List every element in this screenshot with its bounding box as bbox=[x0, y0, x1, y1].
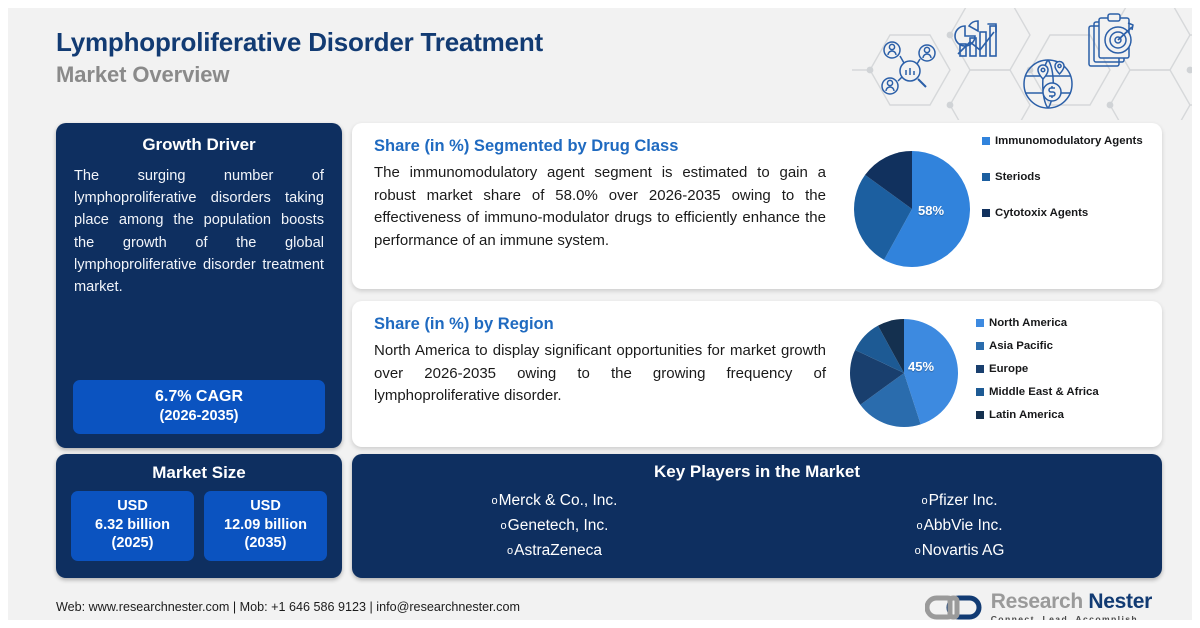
legend-swatch bbox=[982, 173, 990, 181]
list-bullet-icon: o bbox=[501, 520, 507, 532]
globe-location-money-icon bbox=[1024, 60, 1072, 108]
region-card: Share (in %) by Region North America to … bbox=[352, 301, 1162, 447]
market-size-panel: Market Size USD 6.32 billion (2025) USD … bbox=[56, 454, 342, 578]
footer-contact: Web: www.researchnester.com | Mob: +1 64… bbox=[56, 600, 520, 614]
key-players-title: Key Players in the Market bbox=[352, 454, 1162, 482]
key-player-name: Genetech, Inc. bbox=[508, 517, 609, 534]
key-player-item: oGenetech, Inc. bbox=[352, 513, 757, 538]
legend-label: Cytotoxix Agents bbox=[995, 207, 1088, 219]
logo-word-research: Research bbox=[991, 590, 1083, 613]
legend-item: North America bbox=[976, 317, 1099, 329]
user-network-search-icon bbox=[882, 42, 935, 94]
region-pie-chart: 45% bbox=[850, 319, 958, 427]
page-subtitle: Market Overview bbox=[56, 61, 756, 90]
hexagon-decoration-band bbox=[852, 8, 1192, 120]
key-players-column-left: oMerck & Co., Inc.oGenetech, Inc.oAstraZ… bbox=[352, 488, 757, 563]
market-size-values: USD 6.32 billion (2025) USD 12.09 billio… bbox=[56, 483, 342, 561]
key-players-columns: oMerck & Co., Inc.oGenetech, Inc.oAstraZ… bbox=[352, 482, 1162, 563]
legend-item: Immunomodulatory Agents bbox=[982, 135, 1143, 147]
legend-item: Middle East & Africa bbox=[976, 386, 1099, 398]
drug-class-legend: Immunomodulatory AgentsSteriodsCytotoxix… bbox=[982, 135, 1143, 243]
legend-label: North America bbox=[989, 317, 1067, 329]
bar-chart-growth-icon bbox=[955, 21, 996, 56]
key-player-name: AbbVie Inc. bbox=[924, 517, 1003, 534]
infographic-page: Lymphoproliferative Disorder Treatment M… bbox=[0, 0, 1200, 628]
market-size-currency: USD bbox=[204, 497, 327, 516]
list-bullet-icon: o bbox=[921, 495, 927, 507]
infographic-canvas: Lymphoproliferative Disorder Treatment M… bbox=[8, 8, 1192, 620]
legend-swatch bbox=[982, 137, 990, 145]
list-bullet-icon: o bbox=[916, 520, 922, 532]
clipboard-target-icon bbox=[1089, 14, 1133, 66]
key-player-name: Merck & Co., Inc. bbox=[499, 492, 618, 509]
key-player-name: Pfizer Inc. bbox=[929, 492, 998, 509]
key-player-name: Novartis AG bbox=[922, 542, 1005, 559]
market-size-box-base-year[interactable]: USD 6.32 billion (2025) bbox=[71, 491, 194, 561]
legend-label: Steriods bbox=[995, 171, 1041, 183]
legend-label: Asia Pacific bbox=[989, 340, 1053, 352]
growth-driver-panel: Growth Driver The surging number of lymp… bbox=[56, 123, 342, 448]
logo-word-nester: Nester bbox=[1088, 590, 1152, 613]
legend-swatch bbox=[976, 319, 984, 327]
cagr-period: (2026-2035) bbox=[73, 407, 325, 425]
legend-swatch bbox=[976, 411, 984, 419]
chain-link-icon bbox=[925, 591, 983, 620]
region-chart-zone: 45% North AmericaAsia PacificEuropeMiddl… bbox=[842, 301, 1162, 447]
key-player-item: oNovartis AG bbox=[757, 538, 1162, 563]
logo-text: Research Nester Connect. Lead. Accomplis… bbox=[991, 591, 1152, 620]
drug-class-pie-chart: 58% bbox=[854, 151, 970, 267]
cagr-badge[interactable]: 6.7% CAGR (2026-2035) bbox=[73, 380, 325, 434]
legend-swatch bbox=[976, 342, 984, 350]
region-pie-center-label: 45% bbox=[908, 359, 934, 374]
drug-class-pie-center-label: 58% bbox=[918, 203, 944, 218]
key-player-item: oPfizer Inc. bbox=[757, 488, 1162, 513]
market-size-currency: USD bbox=[71, 497, 194, 516]
legend-item: Latin America bbox=[976, 409, 1099, 421]
legend-item: Cytotoxix Agents bbox=[982, 207, 1143, 219]
market-size-box-forecast-year[interactable]: USD 12.09 billion (2035) bbox=[204, 491, 327, 561]
market-size-year: (2035) bbox=[204, 534, 327, 553]
key-players-column-right: oPfizer Inc.oAbbVie Inc.oNovartis AG bbox=[757, 488, 1162, 563]
legend-swatch bbox=[976, 388, 984, 396]
legend-swatch bbox=[982, 209, 990, 217]
logo-wordmark: Research Nester bbox=[991, 591, 1152, 612]
key-player-item: oAstraZeneca bbox=[352, 538, 757, 563]
legend-item: Europe bbox=[976, 363, 1099, 375]
page-header: Lymphoproliferative Disorder Treatment M… bbox=[56, 26, 756, 89]
legend-swatch bbox=[976, 365, 984, 373]
drug-class-chart-zone: 58% Immunomodulatory AgentsSteriodsCytot… bbox=[842, 123, 1162, 289]
list-bullet-icon: o bbox=[507, 545, 513, 557]
brand-logo: Research Nester Connect. Lead. Accomplis… bbox=[925, 591, 1152, 620]
legend-label: Middle East & Africa bbox=[989, 386, 1099, 398]
legend-item: Steriods bbox=[982, 171, 1143, 183]
market-size-year: (2025) bbox=[71, 534, 194, 553]
cagr-value: 6.7% CAGR bbox=[73, 387, 325, 407]
key-player-name: AstraZeneca bbox=[514, 542, 602, 559]
legend-label: Latin America bbox=[989, 409, 1064, 421]
key-players-panel: Key Players in the Market oMerck & Co., … bbox=[352, 454, 1162, 578]
market-size-title: Market Size bbox=[56, 454, 342, 483]
key-player-item: oAbbVie Inc. bbox=[757, 513, 1162, 538]
legend-label: Europe bbox=[989, 363, 1028, 375]
growth-driver-body: The surging number of lymphoproliferativ… bbox=[74, 165, 324, 298]
market-size-amount: 6.32 billion bbox=[71, 516, 194, 535]
legend-item: Asia Pacific bbox=[976, 340, 1099, 352]
list-bullet-icon: o bbox=[915, 545, 921, 557]
logo-tagline: Connect. Lead. Accomplish. bbox=[991, 615, 1152, 620]
drug-class-card: Share (in %) Segmented by Drug Class The… bbox=[352, 123, 1162, 289]
key-player-item: oMerck & Co., Inc. bbox=[352, 488, 757, 513]
drug-class-body: The immunomodulatory agent segment is es… bbox=[374, 162, 826, 252]
market-size-amount: 12.09 billion bbox=[204, 516, 327, 535]
growth-driver-title: Growth Driver bbox=[56, 135, 342, 155]
legend-label: Immunomodulatory Agents bbox=[995, 135, 1143, 147]
region-legend: North AmericaAsia PacificEuropeMiddle Ea… bbox=[976, 317, 1099, 432]
region-body: North America to display significant opp… bbox=[374, 340, 826, 408]
page-title: Lymphoproliferative Disorder Treatment bbox=[56, 26, 756, 59]
list-bullet-icon: o bbox=[492, 495, 498, 507]
